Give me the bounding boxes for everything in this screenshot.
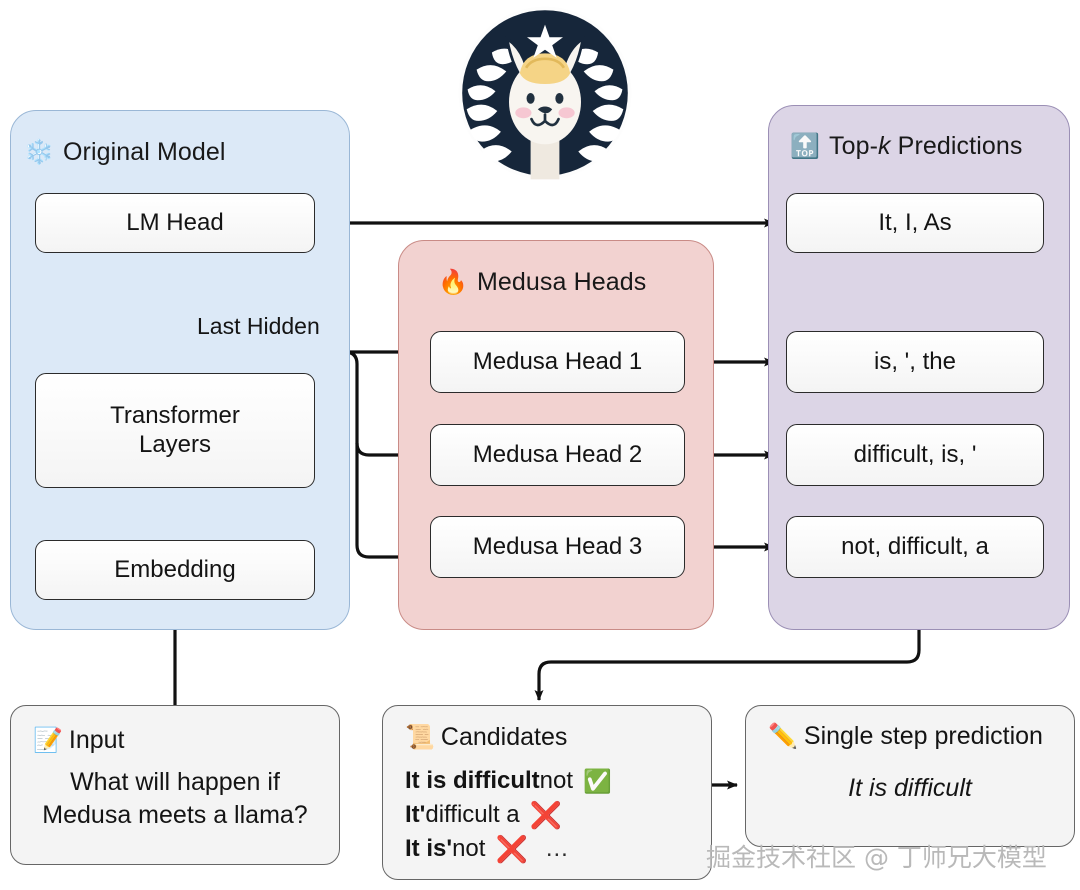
input-line-1: What will happen if	[70, 768, 280, 796]
snowflake-icon: ❄️	[24, 141, 54, 165]
node-lm-head[interactable]: LM Head	[35, 193, 315, 253]
card-prediction-title: Single step prediction	[804, 722, 1043, 751]
candidate-accepted-prefix: It is difficult	[405, 765, 540, 797]
candidate-rest: not	[452, 833, 485, 865]
cross-icon: ❌	[495, 836, 527, 862]
topk-prefix: Top-	[829, 132, 878, 160]
check-icon: ✅	[583, 770, 612, 793]
scroll-icon: 📜	[405, 726, 435, 750]
edge-topk-to-candidates	[539, 630, 919, 700]
list-item[interactable]: It is' not❌...	[405, 832, 612, 866]
node-transformer-layers[interactable]: Transformer Layers	[35, 373, 315, 488]
card-single-step-prediction: ✏️ Single step prediction It is difficul…	[745, 705, 1075, 847]
candidate-accepted-prefix: It is'	[405, 833, 452, 865]
memo-icon: 📝	[33, 729, 63, 753]
topk-k-italic: k	[878, 132, 891, 160]
node-prediction-head-1[interactable]: is, ', the	[786, 331, 1044, 393]
medusa-llama-logo	[455, 3, 635, 183]
card-input-header: 📝 Input	[33, 726, 125, 755]
input-prompt-text: What will happen if Medusa meets a llama…	[11, 766, 339, 832]
card-candidates-title: Candidates	[441, 723, 567, 752]
candidate-rest: difficult a	[425, 799, 519, 831]
group-title-topk-predictions: 🔝 Top-k Predictions	[790, 132, 1022, 161]
card-candidates-header: 📜 Candidates	[405, 723, 567, 752]
node-medusa-head-3[interactable]: Medusa Head 3	[430, 516, 685, 578]
cross-icon: ❌	[530, 802, 562, 828]
list-item[interactable]: It' difficult a❌	[405, 798, 612, 832]
fire-icon: 🔥	[438, 271, 468, 295]
topk-suffix: Predictions	[891, 132, 1023, 160]
node-medusa-head-1[interactable]: Medusa Head 1	[430, 331, 685, 393]
candidate-accepted-prefix: It'	[405, 799, 425, 831]
pencil-icon: ✏️	[768, 725, 798, 749]
node-line-2: Layers	[139, 431, 211, 458]
card-prediction-header: ✏️ Single step prediction	[768, 722, 1043, 751]
list-item[interactable]: It is difficult not✅	[405, 764, 612, 798]
top-arrow-icon: 🔝	[790, 135, 820, 159]
candidate-rest: not	[540, 765, 573, 797]
node-prediction-lm-head[interactable]: It, I, As	[786, 193, 1044, 253]
candidate-list: It is difficult not✅ It' difficult a❌ It…	[405, 764, 612, 866]
node-medusa-head-2[interactable]: Medusa Head 2	[430, 424, 685, 486]
candidate-ellipsis: ...	[546, 833, 569, 865]
card-candidates: 📜 Candidates It is difficult not✅ It' di…	[382, 705, 712, 880]
watermark: 掘金技术社区 @ 丁师兄大模型	[706, 838, 1047, 874]
diagram-canvas: ❄️ Original Model LM Head Transformer La…	[0, 0, 1080, 890]
edge-label-last-hidden: Last Hidden	[197, 313, 320, 340]
node-embedding[interactable]: Embedding	[35, 540, 315, 600]
input-line-2: Medusa meets a llama?	[42, 801, 307, 829]
card-input: 📝 Input What will happen if Medusa meets…	[10, 705, 340, 865]
group-title-medusa-heads: 🔥 Medusa Heads	[438, 268, 646, 297]
prediction-output-text: It is difficult	[746, 774, 1074, 803]
node-line-1: Transformer	[110, 402, 240, 429]
node-prediction-head-2[interactable]: difficult, is, '	[786, 424, 1044, 486]
node-prediction-head-3[interactable]: not, difficult, a	[786, 516, 1044, 578]
card-input-title: Input	[69, 726, 125, 755]
group-title-original-model: ❄️ Original Model	[24, 138, 226, 167]
group-label: Original Model	[63, 138, 226, 167]
group-label: Medusa Heads	[477, 268, 646, 297]
group-label: Top-k Predictions	[829, 132, 1022, 161]
